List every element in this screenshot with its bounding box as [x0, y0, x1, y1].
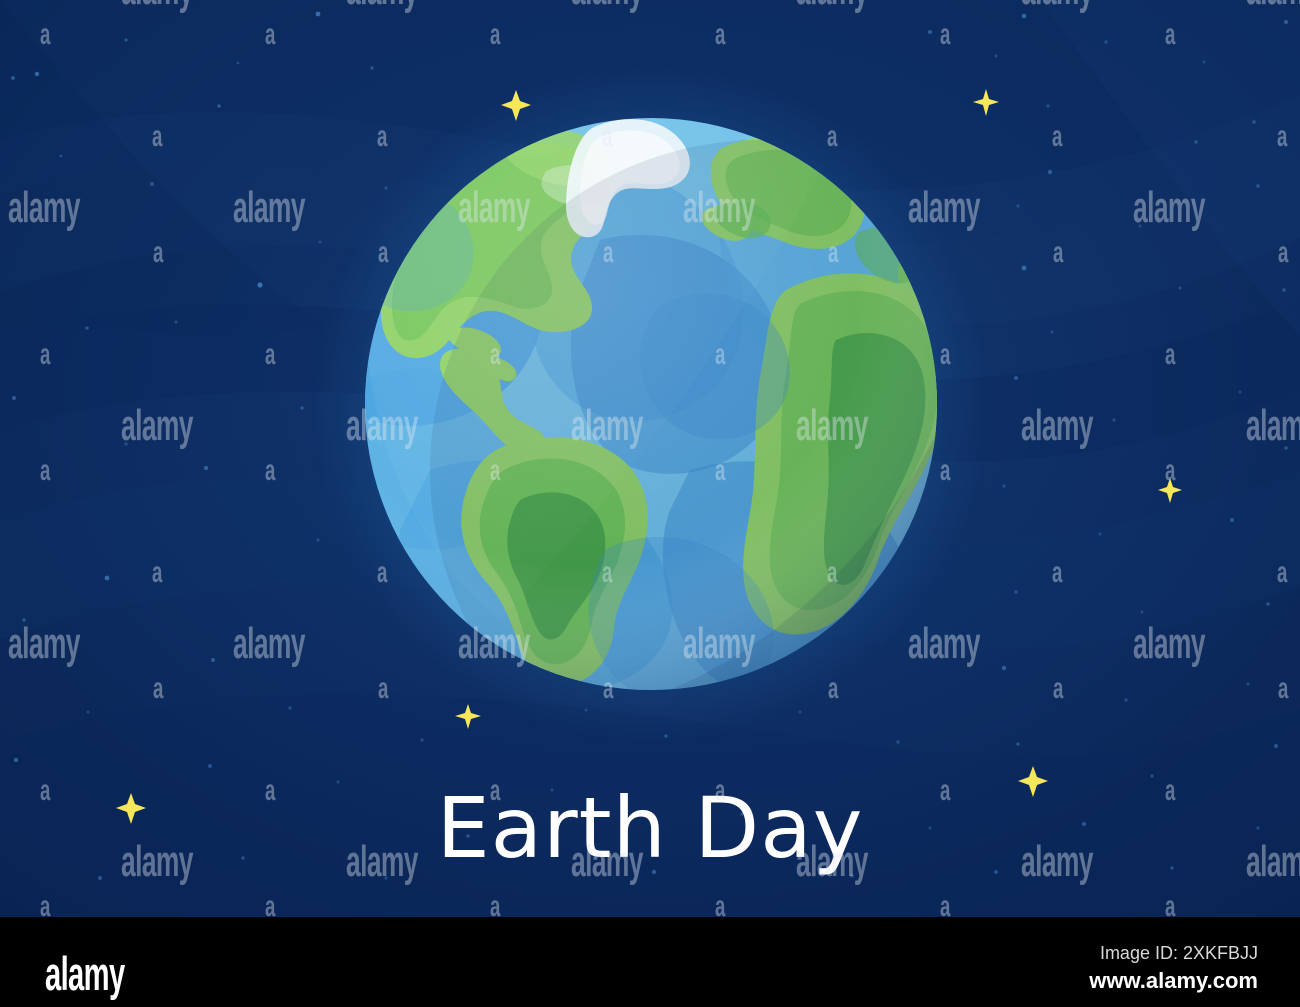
poster-canvas: Earth Day aaalamyaaalamyaaalamyaaalamyaa…: [0, 0, 1300, 1007]
site-url-label: www.alamy.com: [1089, 967, 1258, 996]
alamy-footer-bar: alamy Image ID: 2XKFBJJ www.alamy.com: [0, 917, 1300, 1007]
footer-meta: Image ID: 2XKFBJJ www.alamy.com: [1089, 941, 1258, 996]
alamy-logo: alamy: [45, 950, 125, 997]
artwork-area: Earth Day aaalamyaaalamyaaalamyaaalamyaa…: [0, 0, 1300, 917]
image-id-label: Image ID: 2XKFBJJ: [1089, 941, 1258, 965]
globe-shading: [365, 118, 937, 690]
space-scene-illustration: [0, 0, 1300, 917]
